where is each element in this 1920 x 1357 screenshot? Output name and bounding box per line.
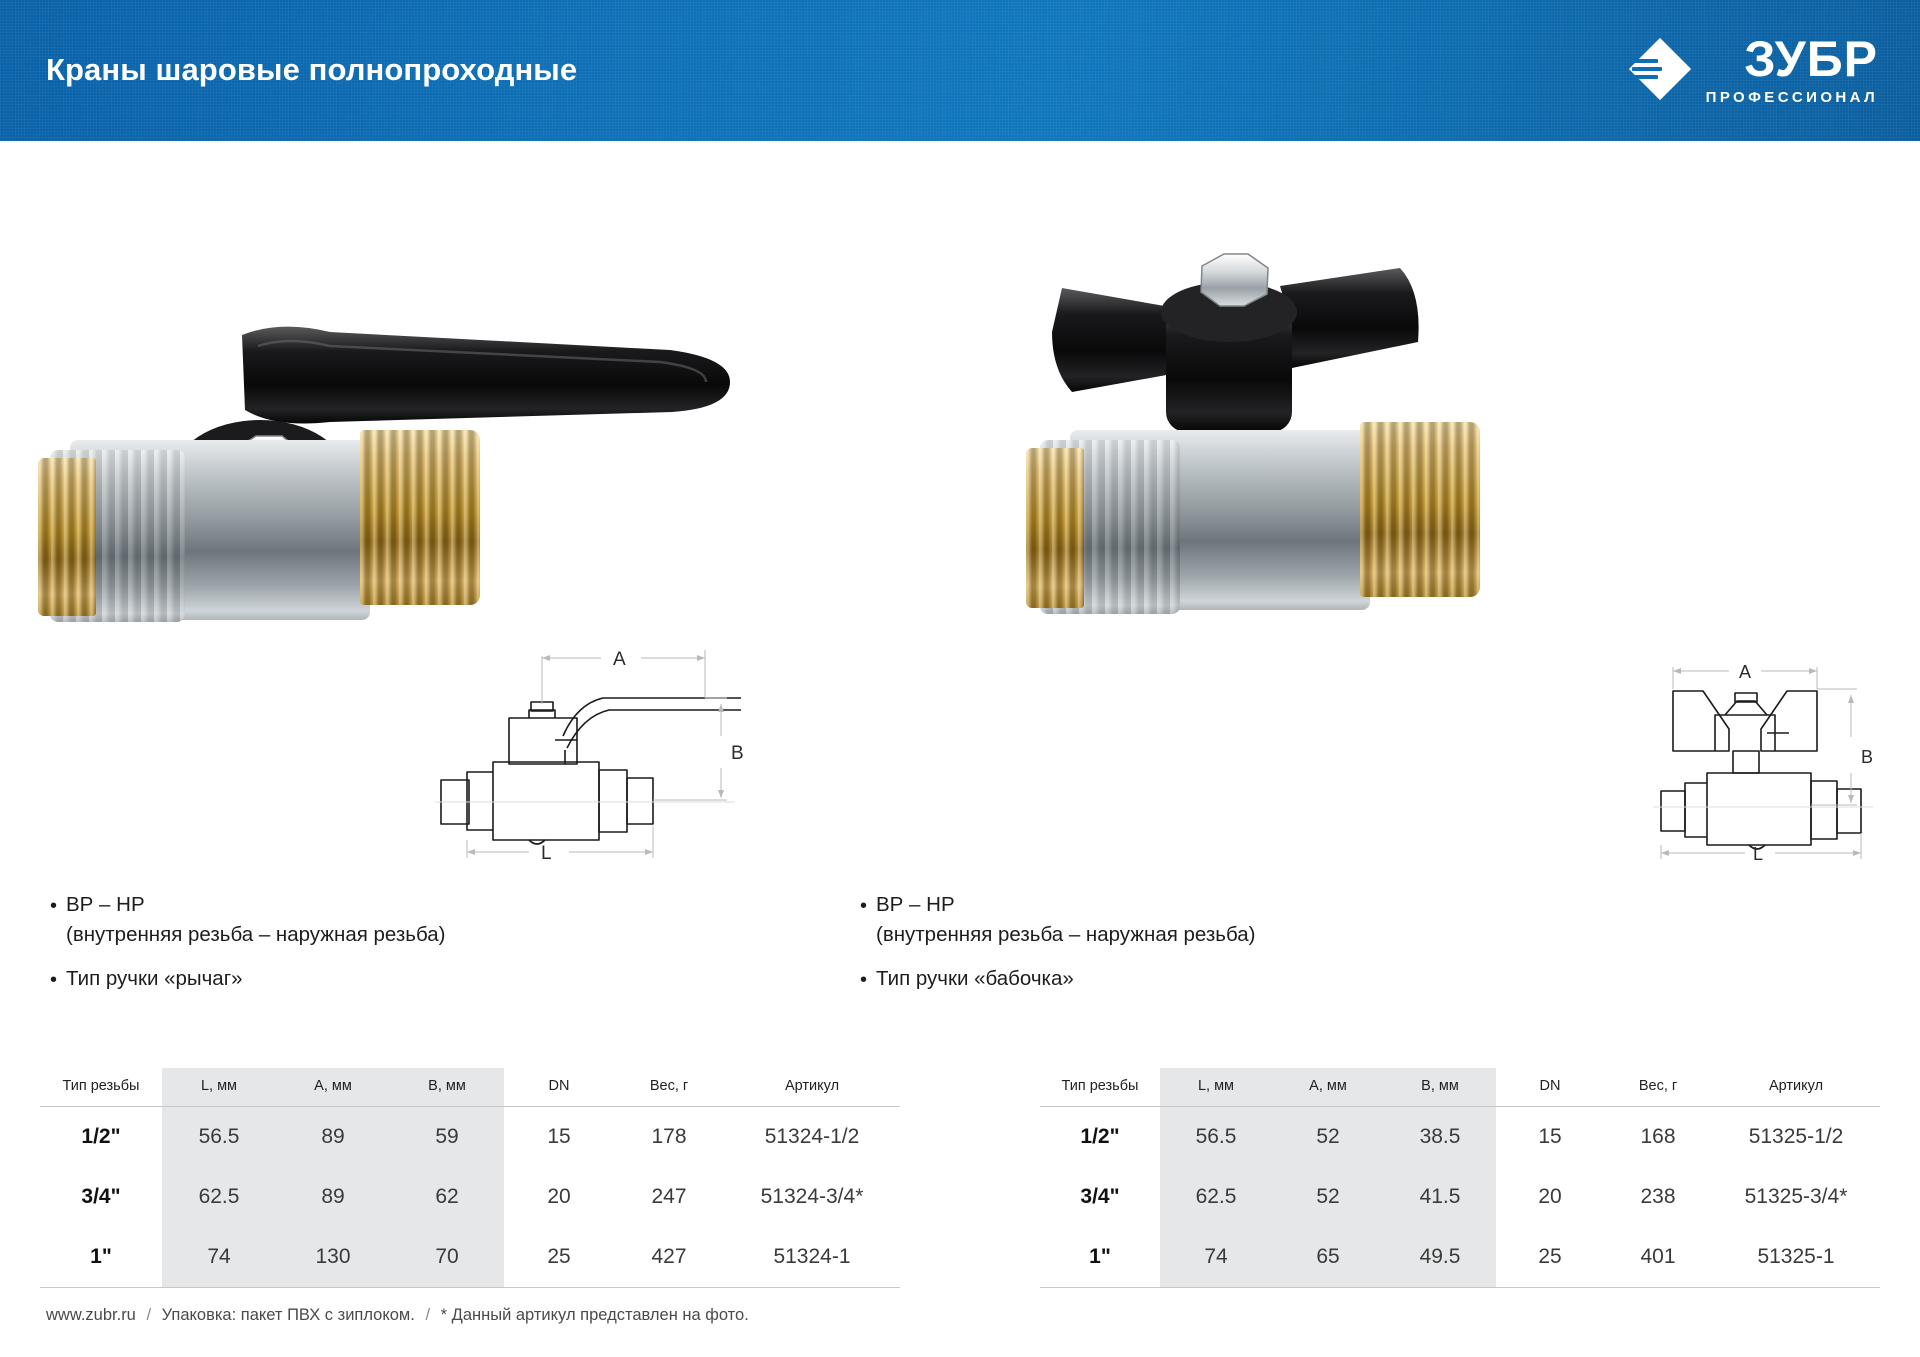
cell-weight: 178 (614, 1107, 724, 1168)
features-list-butterfly: • ВР – НР (внутренняя резьба – наружная … (860, 890, 1460, 1005)
cell-dn: 15 (1496, 1107, 1604, 1168)
feature-sub: (внутренняя резьба – наружная резьба) (66, 920, 445, 950)
cell-article: 51325-1/2 (1712, 1107, 1880, 1168)
dim-label-a: A (1739, 662, 1751, 682)
cell-article: 51324-3/4* (724, 1167, 900, 1227)
cell-article: 51324-1/2 (724, 1107, 900, 1168)
cell-weight: 238 (1604, 1167, 1712, 1227)
valve-male-thread (360, 430, 480, 605)
table-row: 3/4" 62.5 52 41.5 20 238 51325-3/4* (1040, 1167, 1880, 1227)
bullet-dot-icon: • (860, 890, 876, 950)
cell-b: 38.5 (1384, 1107, 1496, 1168)
col-header-dn: DN (1496, 1068, 1604, 1107)
col-header-l: L, мм (162, 1068, 276, 1107)
col-header-b: B, мм (390, 1068, 504, 1107)
stem-nut (1201, 254, 1268, 306)
cell-weight: 427 (614, 1227, 724, 1288)
table-row: 3/4" 62.5 89 62 20 247 51324-3/4* (40, 1167, 900, 1227)
footer-note: * Данный артикул представлен на фото. (441, 1306, 749, 1324)
features-list-lever: • ВР – НР (внутренняя резьба – наружная … (50, 890, 650, 1005)
cell-article: 51324-1 (724, 1227, 900, 1288)
product-photo-butterfly (980, 250, 1640, 670)
technical-drawing-lever: A B L (405, 640, 745, 865)
dim-label-a: A (613, 649, 626, 670)
brand-logo: ЗУБР ПРОФЕССИОНАЛ (1630, 34, 1878, 114)
zubr-diamond-icon (1630, 39, 1692, 101)
cell-a: 52 (1272, 1167, 1384, 1227)
table-header-row: Тип резьбы L, мм A, мм B, мм DN Вес, г А… (40, 1068, 900, 1107)
col-header-l: L, мм (1160, 1068, 1272, 1107)
feature-main: Тип ручки «рычаг» (66, 967, 243, 990)
col-header-b: B, мм (1384, 1068, 1496, 1107)
dim-label-l: L (1753, 844, 1763, 864)
valve-female-thread (1026, 448, 1084, 608)
cell-b: 62 (390, 1167, 504, 1227)
table-row: 1" 74 130 70 25 427 51324-1 (40, 1227, 900, 1288)
footer-separator: / (419, 1306, 436, 1324)
cell-weight: 401 (1604, 1227, 1712, 1288)
cell-dn: 20 (504, 1167, 614, 1227)
cell-b: 59 (390, 1107, 504, 1168)
col-header-a: A, мм (1272, 1068, 1384, 1107)
cell-dn: 20 (1496, 1167, 1604, 1227)
cell-l: 74 (1160, 1227, 1272, 1288)
col-header-dn: DN (504, 1068, 614, 1107)
page-footer: www.zubr.ru / Упаковка: пакет ПВХ с зипл… (46, 1306, 749, 1325)
cell-a: 65 (1272, 1227, 1384, 1288)
cell-thread: 1/2" (40, 1107, 162, 1168)
bullet-dot-icon: • (50, 890, 66, 950)
dim-label-l: L (541, 843, 552, 864)
cell-a: 52 (1272, 1107, 1384, 1168)
dim-label-b: B (1861, 747, 1873, 767)
list-item: • Тип ручки «рычаг» (50, 964, 650, 995)
col-header-article: Артикул (1712, 1068, 1880, 1107)
col-header-thread: Тип резьбы (40, 1068, 162, 1107)
table-header-row: Тип резьбы L, мм A, мм B, мм DN Вес, г А… (1040, 1068, 1880, 1107)
table-row: 1/2" 56.5 89 59 15 178 51324-1/2 (40, 1107, 900, 1168)
footer-website[interactable]: www.zubr.ru (46, 1306, 136, 1324)
cell-l: 56.5 (162, 1107, 276, 1168)
cell-thread: 1/2" (1040, 1107, 1160, 1168)
col-header-weight: Вес, г (1604, 1068, 1712, 1107)
cell-thread: 1" (40, 1227, 162, 1288)
page-title: Краны шаровые полнопроходные (46, 52, 577, 88)
table-row: 1/2" 56.5 52 38.5 15 168 51325-1/2 (1040, 1107, 1880, 1168)
table-row: 1" 74 65 49.5 25 401 51325-1 (1040, 1227, 1880, 1288)
cell-l: 62.5 (1160, 1167, 1272, 1227)
col-header-a: A, мм (276, 1068, 390, 1107)
cell-thread: 3/4" (40, 1167, 162, 1227)
cell-b: 70 (390, 1227, 504, 1288)
cell-article: 51325-3/4* (1712, 1167, 1880, 1227)
footer-separator: / (140, 1306, 157, 1324)
feature-main: ВР – НР (876, 893, 955, 916)
cell-l: 62.5 (162, 1167, 276, 1227)
cell-dn: 25 (504, 1227, 614, 1288)
feature-main: Тип ручки «бабочка» (876, 967, 1074, 990)
page-header: Краны шаровые полнопроходные ЗУБР ПРОФЕС… (0, 0, 1920, 141)
list-item: • ВР – НР (внутренняя резьба – наружная … (50, 890, 650, 950)
cell-l: 74 (162, 1227, 276, 1288)
cell-dn: 15 (504, 1107, 614, 1168)
cell-a: 89 (276, 1167, 390, 1227)
bullet-dot-icon: • (50, 964, 66, 995)
cell-thread: 1" (1040, 1227, 1160, 1288)
brand-name: ЗУБР (1744, 34, 1878, 84)
spec-table-lever: Тип резьбы L, мм A, мм B, мм DN Вес, г А… (40, 1068, 900, 1288)
cell-article: 51325-1 (1712, 1227, 1880, 1288)
list-item: • Тип ручки «бабочка» (860, 964, 1460, 995)
col-header-article: Артикул (724, 1068, 900, 1107)
cell-weight: 247 (614, 1167, 724, 1227)
dim-label-b: B (731, 743, 744, 764)
cell-a: 89 (276, 1107, 390, 1168)
feature-sub: (внутренняя резьба – наружная резьба) (876, 920, 1255, 950)
feature-main: ВР – НР (66, 893, 145, 916)
technical-drawing-butterfly: A B L (1645, 655, 1895, 865)
cell-a: 130 (276, 1227, 390, 1288)
cell-thread: 3/4" (1040, 1167, 1160, 1227)
valve-male-thread (1360, 422, 1480, 597)
brand-tagline: ПРОФЕССИОНАЛ (1706, 89, 1878, 106)
lever-handle (242, 327, 730, 424)
footer-packaging: Упаковка: пакет ПВХ с зиплоком. (162, 1306, 415, 1324)
cell-weight: 168 (1604, 1107, 1712, 1168)
cell-dn: 25 (1496, 1227, 1604, 1288)
table: Тип резьбы L, мм A, мм B, мм DN Вес, г А… (40, 1068, 900, 1288)
valve-female-thread (38, 458, 96, 616)
bullet-dot-icon: • (860, 964, 876, 995)
product-photo-lever (30, 160, 750, 660)
cell-b: 49.5 (1384, 1227, 1496, 1288)
butterfly-wing-right (1280, 268, 1419, 368)
spec-table-butterfly: Тип резьбы L, мм A, мм B, мм DN Вес, г А… (1040, 1068, 1880, 1288)
list-item: • ВР – НР (внутренняя резьба – наружная … (860, 890, 1460, 950)
col-header-thread: Тип резьбы (1040, 1068, 1160, 1107)
cell-b: 41.5 (1384, 1167, 1496, 1227)
cell-l: 56.5 (1160, 1107, 1272, 1168)
table: Тип резьбы L, мм A, мм B, мм DN Вес, г А… (1040, 1068, 1880, 1288)
col-header-weight: Вес, г (614, 1068, 724, 1107)
